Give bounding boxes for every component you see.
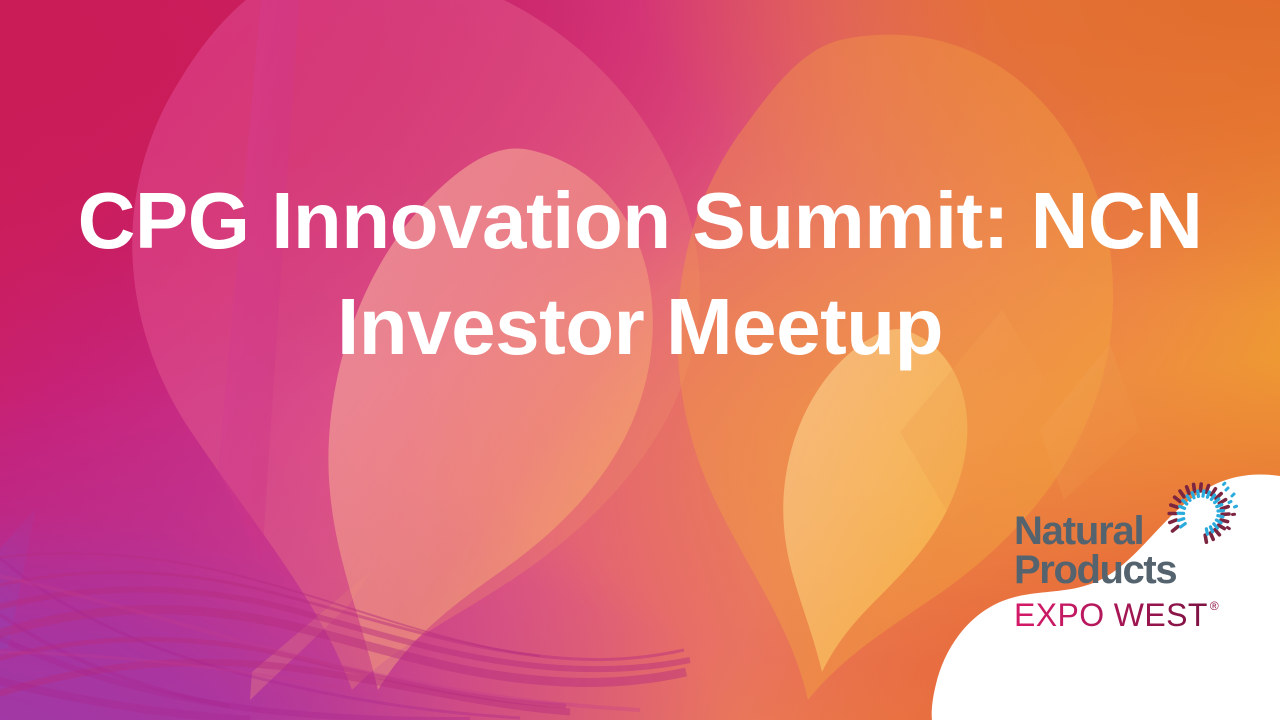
starburst-icon bbox=[1166, 480, 1240, 550]
logo-expo-west-row: EXPO WEST ® bbox=[1014, 599, 1264, 631]
slide-title-line-1: CPG Innovation Summit: NCN bbox=[14, 168, 1266, 274]
logo-word-expo-west: EXPO WEST bbox=[1014, 599, 1208, 631]
logo-lockup: Natural Products EXPO WEST ® bbox=[1014, 512, 1264, 702]
slide-title: CPG Innovation Summit: NCN Investor Meet… bbox=[0, 168, 1280, 381]
slide-title-line-2: Investor Meetup bbox=[14, 274, 1266, 380]
logo-badge: Natural Products EXPO WEST ® bbox=[910, 452, 1280, 720]
logo-word-products: Products bbox=[1014, 551, 1264, 590]
presentation-slide: CPG Innovation Summit: NCN Investor Meet… bbox=[0, 0, 1280, 720]
registered-trademark-icon: ® bbox=[1210, 600, 1219, 612]
